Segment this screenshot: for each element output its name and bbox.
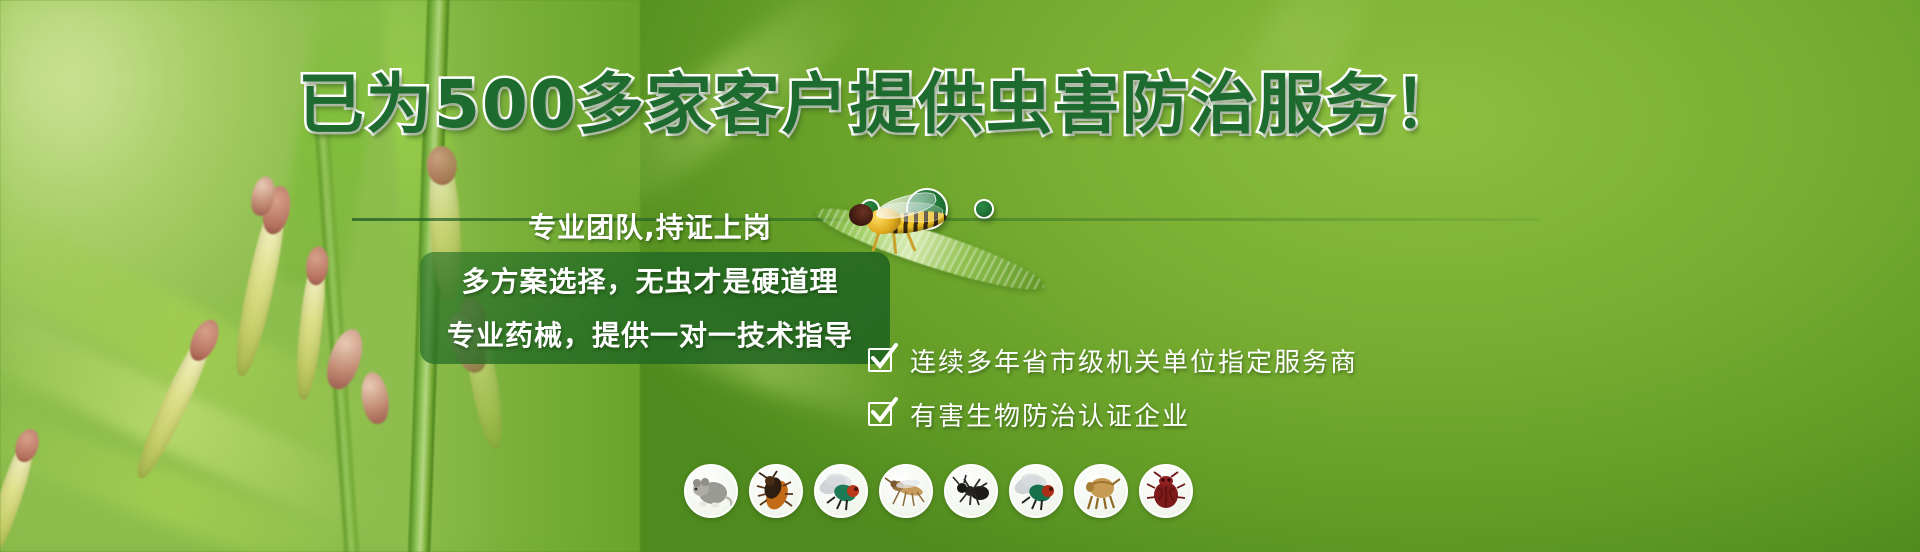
mosquito-icon[interactable] [879,464,933,518]
banner-headline: 已为500多家客户提供虫害防治服务！ [298,72,1462,138]
feature-line-1: 专业团队,持证上岗 [528,206,772,246]
fly-icon[interactable] [814,464,868,518]
bullet-label: 有害生物防治认证企业 [910,396,1190,433]
rat-icon[interactable] [684,464,738,518]
feature-line-2: 多方案选择，无虫才是硬道理 [461,260,838,300]
bedbug-icon[interactable] [1139,464,1193,518]
bullet-item: 有害生物防治认证企业 [868,390,1358,438]
checkbox-checked-icon [868,400,896,428]
pest-icon-row [684,464,1193,518]
hoverfly-icon [845,194,953,250]
ant-icon[interactable] [944,464,998,518]
decorative-dot-small [974,199,994,219]
bullet-item: 连续多年省市级机关单位指定服务商 [868,336,1358,384]
checkbox-checked-icon [868,346,896,374]
flea-icon[interactable] [1074,464,1128,518]
cockroach-icon[interactable] [749,464,803,518]
bullet-list: 连续多年省市级机关单位指定服务商 有害生物防治认证企业 [868,336,1358,444]
promo-banner: 已为500多家客户提供虫害防治服务！ 专业团队,持证上岗 多方案选择，无虫才是硬… [0,0,1920,552]
bullet-label: 连续多年省市级机关单位指定服务商 [910,342,1358,379]
blowfly-icon[interactable] [1009,464,1063,518]
feature-line-3: 专业药械，提供一对一技术指导 [447,314,853,354]
